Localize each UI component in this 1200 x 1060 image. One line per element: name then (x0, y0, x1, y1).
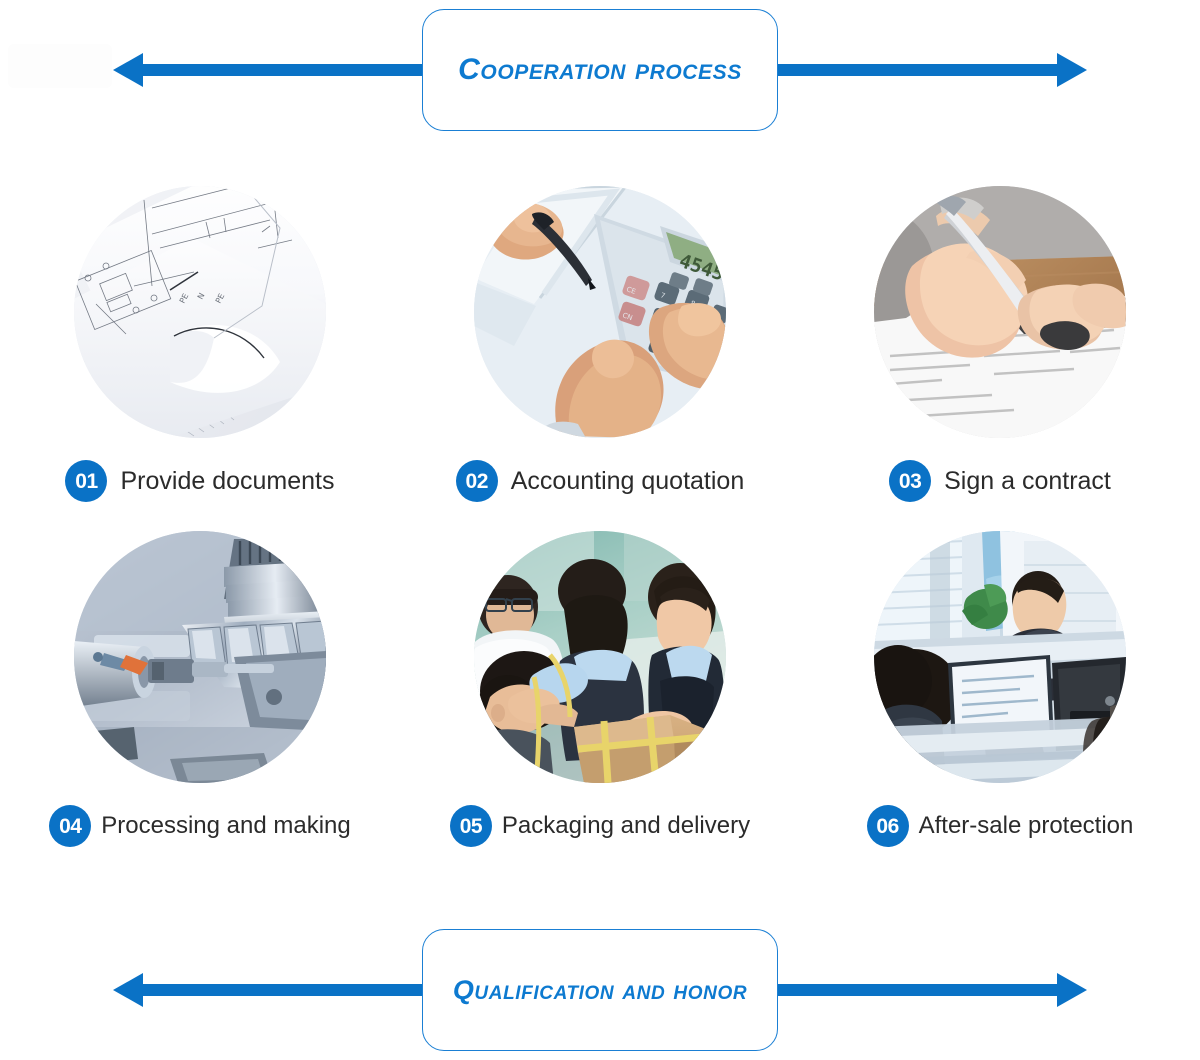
process-step-03[interactable]: 03 Sign a contract (800, 170, 1200, 530)
step-number-badge: 06 (867, 805, 909, 847)
process-step-05[interactable]: 05 Packaging and delivery (400, 515, 800, 875)
banner-title-box-bottom: Qualification and honor (422, 929, 778, 1051)
step-number-badge: 01 (65, 460, 107, 502)
banner-title-top: Cooperation process (458, 55, 742, 85)
step-label: After-sale protection (919, 814, 1134, 838)
cnc-machining-photo (74, 531, 326, 783)
process-step-caption: 05 Packaging and delivery (400, 801, 800, 851)
step-label: Processing and making (101, 814, 350, 838)
step-number-badge: 04 (49, 805, 91, 847)
step-label: Provide documents (120, 469, 334, 494)
process-steps: 60 W b1 (0, 170, 1200, 890)
process-step-caption: 02 Accounting quotation (400, 456, 800, 506)
process-step-06[interactable]: 06 After-sale protection (800, 515, 1200, 875)
packaging-workers-photo (474, 531, 726, 783)
process-step-caption: 04 Processing and making (0, 801, 400, 851)
process-step-04[interactable]: 04 Processing and making (0, 515, 400, 875)
process-steps-row-2: 04 Processing and making (0, 515, 1200, 875)
banner-cooperation-process: Cooperation process (0, 0, 1200, 140)
step-label: Sign a contract (944, 469, 1111, 494)
banner-title-box-top: Cooperation process (422, 9, 778, 131)
step-label: Packaging and delivery (502, 814, 750, 838)
step-number-badge: 02 (456, 460, 498, 502)
calculator-hands-photo: 4545 (474, 186, 726, 438)
process-step-caption: 03 Sign a contract (800, 456, 1200, 506)
step-number-badge: 05 (450, 805, 492, 847)
rolled-blueprints-photo: 60 W b1 (74, 186, 326, 438)
step-label: Accounting quotation (511, 469, 745, 494)
signing-contract-photo (874, 186, 1126, 438)
process-step-caption: 06 After-sale protection (800, 801, 1200, 851)
process-step-caption: 01 Provide documents (0, 456, 400, 506)
banner-title-bottom: Qualification and honor (453, 977, 747, 1004)
process-step-01[interactable]: 60 W b1 (0, 170, 400, 530)
banner-qualification-honor: Qualification and honor (0, 920, 1200, 1060)
process-steps-row-1: 60 W b1 (0, 170, 1200, 530)
step-number-badge: 03 (889, 460, 931, 502)
cooperation-process-page: Cooperation process (0, 0, 1200, 1060)
process-step-02[interactable]: 4545 (400, 170, 800, 530)
office-support-photo (874, 531, 1126, 783)
